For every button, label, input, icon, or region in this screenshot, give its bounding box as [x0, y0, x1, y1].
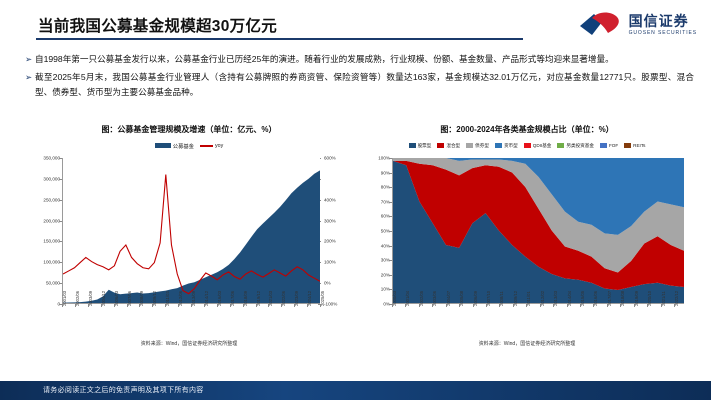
bullet-text: 自1998年第一只公募基金发行以来，公募基金行业已历经25年的演进。随着行业的发… — [35, 52, 694, 67]
chart-title: 图：公募基金管理规模及增速（单位：亿元、%） — [24, 124, 354, 136]
plot-canvas — [392, 158, 684, 304]
x-tick-mark — [127, 304, 128, 307]
logo-text-en: GUOSEN SECURITIES — [629, 31, 697, 36]
bullet-text: 截至2025年5月末，我国公募基金行业管理人（含持有公募牌照的券商资管、保险资管… — [35, 70, 694, 100]
x-tick-mark — [593, 304, 594, 307]
legend-swatch-icon — [409, 143, 416, 148]
list-item: ➢ 截至2025年5月末，我国公募基金行业管理人（含持有公募牌照的券商资管、保险… — [22, 70, 694, 100]
legend-line-icon — [200, 145, 213, 147]
chart-plot-area: 0%10%20%30%40%50%60%70%80%90%100% 2000/0… — [362, 154, 692, 332]
x-tick-mark — [268, 304, 269, 307]
x-tick-mark — [499, 304, 500, 307]
y-tick-label: 350,000 — [43, 156, 60, 161]
charts-region: 图：公募基金管理规模及增速（单位：亿元、%） 公募基金 yoy 050,0001… — [0, 124, 711, 374]
slide-footer: 请务必阅读正文之后的免责声明及其项下所有内容 — [0, 381, 711, 400]
x-tick-mark — [88, 304, 89, 307]
x-tick-mark — [230, 304, 231, 307]
x-tick-mark — [320, 304, 321, 307]
x-tick-mark — [152, 304, 153, 307]
x-tick-mark — [178, 304, 179, 307]
legend-label: 公募基金 — [173, 142, 194, 150]
y2-tick-label: 200% — [324, 239, 336, 244]
chart-title: 图：2000-2024年各类基金规模占比（单位：%） — [362, 124, 692, 136]
legend-swatch-icon — [466, 143, 473, 148]
x-tick-mark — [62, 304, 63, 307]
legend-item-6: FOF — [600, 143, 618, 148]
legend-swatch-icon — [557, 143, 564, 148]
x-tick-mark — [191, 304, 192, 307]
x-tick-mark — [580, 304, 581, 307]
list-item: ➢ 自1998年第一只公募基金发行以来，公募基金行业已历经25年的演进。随着行业… — [22, 52, 694, 67]
x-tick-mark — [243, 304, 244, 307]
y-tick-label: 200,000 — [43, 218, 60, 223]
logo-mark-icon — [578, 11, 624, 39]
legend-label: 股票型 — [418, 143, 432, 149]
x-tick-mark — [281, 304, 282, 307]
title-underline — [36, 38, 523, 40]
x-tick-mark — [294, 304, 295, 307]
x-tick-mark — [674, 304, 675, 307]
legend-label: 混合型 — [446, 143, 460, 149]
x-tick-mark — [540, 304, 541, 307]
y2-tick-label: 100% — [324, 260, 336, 265]
x-tick-mark — [432, 304, 433, 307]
y2-tick-label: 600% — [324, 156, 336, 161]
legend-swatch-icon — [495, 143, 502, 148]
x-tick-mark — [256, 304, 257, 307]
x-tick-mark — [165, 304, 166, 307]
footer-disclaimer: 请务必阅读正文之后的免责声明及其项下所有内容 — [43, 385, 204, 395]
x-tick-mark — [607, 304, 608, 307]
chart-legend: 公募基金 yoy — [24, 140, 354, 151]
x-tick-mark — [204, 304, 205, 307]
legend-item-1: 混合型 — [437, 143, 460, 149]
legend-label: QDII基金 — [533, 143, 552, 149]
legend-label: yoy — [215, 143, 223, 149]
x-tick-mark — [446, 304, 447, 307]
x-tick-mark — [405, 304, 406, 307]
legend-swatch-icon — [524, 143, 531, 148]
legend-item-7: REITs — [624, 143, 645, 148]
legend-swatch-icon — [437, 143, 444, 148]
legend-label: 债券型 — [475, 143, 489, 149]
slide: 当前我国公募基金规模超30万亿元 国信证券 GUOSEN SECURITIES … — [0, 0, 711, 400]
legend-label: FOF — [609, 143, 618, 148]
x-tick-mark — [217, 304, 218, 307]
legend-swatch-icon — [155, 143, 171, 148]
x-tick-mark — [101, 304, 102, 307]
legend-label: 货币型 — [504, 143, 518, 149]
x-tick-mark — [486, 304, 487, 307]
legend-item-yoy: yoy — [200, 143, 223, 149]
legend-item-4: QDII基金 — [524, 143, 552, 149]
y2-tick-label: 400% — [324, 197, 336, 202]
legend-item-fund: 公募基金 — [155, 142, 194, 150]
x-tick-mark — [459, 304, 460, 307]
x-tick-mark — [114, 304, 115, 307]
chart-plot-area: 050,000100,000150,000200,000250,000300,0… — [24, 154, 354, 332]
y2-tick-label: 0% — [324, 281, 331, 286]
company-logo: 国信证券 GUOSEN SECURITIES — [578, 9, 697, 41]
x-tick-mark — [620, 304, 621, 307]
x-tick-mark — [513, 304, 514, 307]
plot-canvas — [62, 158, 320, 304]
logo-text-cn: 国信证券 — [629, 14, 697, 28]
chart-legend: 股票型混合型债券型货币型QDII基金另类投资基金FOFREITs — [362, 140, 692, 151]
x-tick-mark — [567, 304, 568, 307]
chart-fund-scale-growth: 图：公募基金管理规模及增速（单位：亿元、%） 公募基金 yoy 050,0001… — [24, 124, 354, 374]
y-tick-label: 150,000 — [43, 239, 60, 244]
x-tick-mark — [526, 304, 527, 307]
bullet-arrow-icon: ➢ — [22, 52, 35, 67]
x-tick-mark — [553, 304, 554, 307]
x-tick-mark — [75, 304, 76, 307]
slide-header: 当前我国公募基金规模超30万亿元 国信证券 GUOSEN SECURITIES — [0, 0, 711, 48]
y-tick-label: 50,000 — [46, 281, 60, 286]
page-title: 当前我国公募基金规模超30万亿元 — [38, 14, 277, 36]
chart-fund-type-share: 图：2000-2024年各类基金规模占比（单位：%） 股票型混合型债券型货币型Q… — [362, 124, 692, 374]
x-tick-mark — [647, 304, 648, 307]
legend-item-0: 股票型 — [409, 143, 432, 149]
bullet-arrow-icon: ➢ — [22, 70, 35, 85]
x-tick-mark — [139, 304, 140, 307]
chart-source-note: 资料来源：Wind，国信证券经济研究所整理 — [362, 340, 692, 347]
x-tick-mark — [419, 304, 420, 307]
x-tick-mark — [661, 304, 662, 307]
y-tick-label: 250,000 — [43, 197, 60, 202]
legend-swatch-icon — [600, 143, 607, 148]
legend-swatch-icon — [624, 143, 631, 148]
legend-item-3: 货币型 — [495, 143, 518, 149]
chart-source-note: 资料来源：Wind，国信证券经济研究所整理 — [24, 340, 354, 347]
x-tick-mark — [473, 304, 474, 307]
legend-item-2: 债券型 — [466, 143, 489, 149]
legend-label: 另类投资基金 — [566, 143, 594, 149]
bullet-list: ➢ 自1998年第一只公募基金发行以来，公募基金行业已历经25年的演进。随着行业… — [22, 52, 694, 103]
legend-label: REITs — [633, 143, 645, 148]
y-tick-label: 100,000 — [43, 260, 60, 265]
y2-tick-label: 300% — [324, 218, 336, 223]
x-tick-mark — [392, 304, 393, 307]
y2-tick-label: -100% — [324, 302, 337, 307]
y-tick-label: 300,000 — [43, 176, 60, 181]
x-tick-mark — [634, 304, 635, 307]
legend-item-5: 另类投资基金 — [557, 143, 594, 149]
x-tick-mark — [307, 304, 308, 307]
